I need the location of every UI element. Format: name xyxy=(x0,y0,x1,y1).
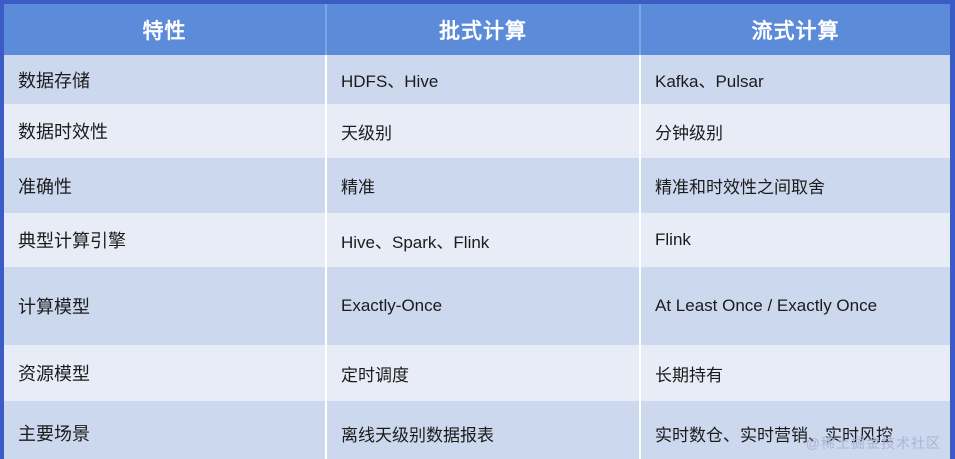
table-row: 计算模型 Exactly-Once At Least Once / Exactl… xyxy=(4,267,950,345)
frame-right-edge xyxy=(950,0,955,459)
cell-batch: 天级别 xyxy=(326,104,640,158)
cell-feature: 资源模型 xyxy=(4,345,326,401)
cell-batch: Exactly-Once xyxy=(326,267,640,345)
table-row: 资源模型 定时调度 长期持有 xyxy=(4,345,950,401)
table-row: 典型计算引擎 Hive、Spark、Flink Flink xyxy=(4,213,950,267)
comparison-table: 特性 批式计算 流式计算 数据存储 HDFS、Hive Kafka、Pulsar… xyxy=(4,4,950,459)
cell-stream: Kafka、Pulsar xyxy=(640,55,950,104)
cell-feature: 准确性 xyxy=(4,158,326,213)
cell-feature: 计算模型 xyxy=(4,267,326,345)
column-header-stream: 流式计算 xyxy=(640,4,950,55)
cell-feature: 数据时效性 xyxy=(4,104,326,158)
column-header-feature: 特性 xyxy=(4,4,326,55)
cell-stream: 精准和时效性之间取舍 xyxy=(640,158,950,213)
cell-stream: Flink xyxy=(640,213,950,267)
cell-batch: 精准 xyxy=(326,158,640,213)
cell-stream: 长期持有 xyxy=(640,345,950,401)
cell-batch: 离线天级别数据报表 xyxy=(326,401,640,459)
cell-stream: 分钟级别 xyxy=(640,104,950,158)
table-body: 数据存储 HDFS、Hive Kafka、Pulsar 数据时效性 天级别 分钟… xyxy=(4,55,950,459)
table-row: 数据时效性 天级别 分钟级别 xyxy=(4,104,950,158)
table-header: 特性 批式计算 流式计算 xyxy=(4,4,950,55)
cell-batch: Hive、Spark、Flink xyxy=(326,213,640,267)
comparison-table-screen: 特性 批式计算 流式计算 数据存储 HDFS、Hive Kafka、Pulsar… xyxy=(0,0,955,459)
table-row: 主要场景 离线天级别数据报表 实时数仓、实时营销、实时风控 xyxy=(4,401,950,459)
cell-feature: 典型计算引擎 xyxy=(4,213,326,267)
cell-batch: HDFS、Hive xyxy=(326,55,640,104)
table-row: 准确性 精准 精准和时效性之间取舍 xyxy=(4,158,950,213)
cell-batch: 定时调度 xyxy=(326,345,640,401)
cell-feature: 数据存储 xyxy=(4,55,326,104)
table-row: 数据存储 HDFS、Hive Kafka、Pulsar xyxy=(4,55,950,104)
cell-feature: 主要场景 xyxy=(4,401,326,459)
table-header-row: 特性 批式计算 流式计算 xyxy=(4,4,950,55)
cell-stream: 实时数仓、实时营销、实时风控 xyxy=(640,401,950,459)
cell-stream: At Least Once / Exactly Once xyxy=(640,267,950,345)
column-header-batch: 批式计算 xyxy=(326,4,640,55)
